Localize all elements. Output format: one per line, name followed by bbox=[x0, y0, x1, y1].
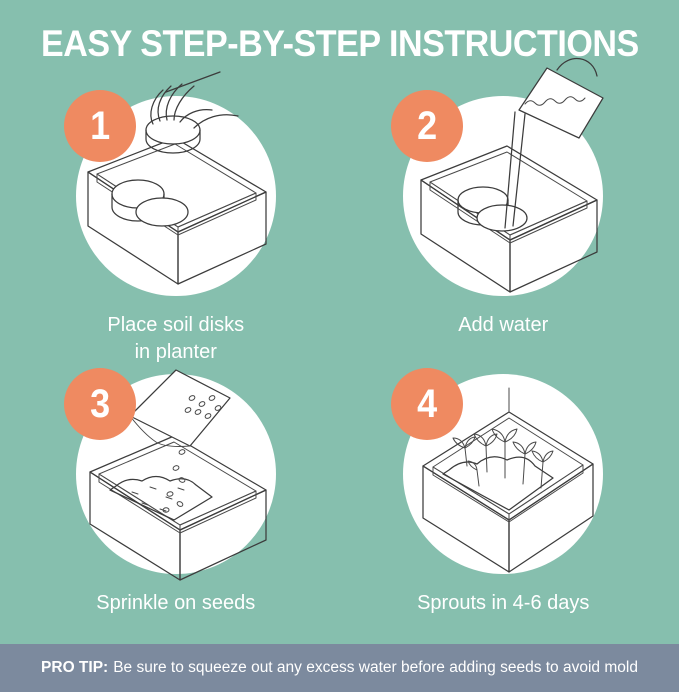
step-1-number: 1 bbox=[90, 106, 110, 146]
step-2-caption: Add water bbox=[458, 312, 548, 339]
step-card-4: 4 Sprouts in 4-6 days bbox=[340, 366, 668, 644]
pro-tip-bar: PRO TIP: Be sure to squeeze out any exce… bbox=[0, 644, 679, 692]
instructions-poster: EASY STEP-BY-STEP INSTRUCTIONS bbox=[0, 0, 679, 679]
step-4-illustration: 4 bbox=[397, 368, 609, 580]
step-4-number: 4 bbox=[417, 384, 437, 424]
step-4-caption: Sprouts in 4-6 days bbox=[417, 590, 589, 617]
step-3-illustration: 3 bbox=[70, 368, 282, 580]
step-2-badge: 2 bbox=[391, 90, 463, 162]
step-2-illustration: 2 bbox=[397, 90, 609, 302]
step-3-caption: Sprinkle on seeds bbox=[96, 590, 255, 617]
step-card-3: 3 Sprinkle on seeds bbox=[12, 366, 340, 644]
step-card-1: 1 Place soil disks in planter bbox=[12, 88, 340, 366]
pro-tip-label: PRO TIP: bbox=[41, 659, 108, 677]
step-3-number: 3 bbox=[90, 384, 110, 424]
pro-tip-text: Be sure to squeeze out any excess water … bbox=[113, 659, 638, 677]
step-card-2: 2 Add water bbox=[340, 88, 668, 366]
step-2-number: 2 bbox=[417, 106, 437, 146]
page-title: EASY STEP-BY-STEP INSTRUCTIONS bbox=[41, 23, 639, 65]
steps-grid: 1 Place soil disks in planter bbox=[0, 88, 679, 644]
title-bar: EASY STEP-BY-STEP INSTRUCTIONS bbox=[0, 0, 679, 88]
step-3-badge: 3 bbox=[64, 368, 136, 440]
step-1-illustration: 1 bbox=[70, 90, 282, 302]
step-1-badge: 1 bbox=[64, 90, 136, 162]
step-4-badge: 4 bbox=[391, 368, 463, 440]
